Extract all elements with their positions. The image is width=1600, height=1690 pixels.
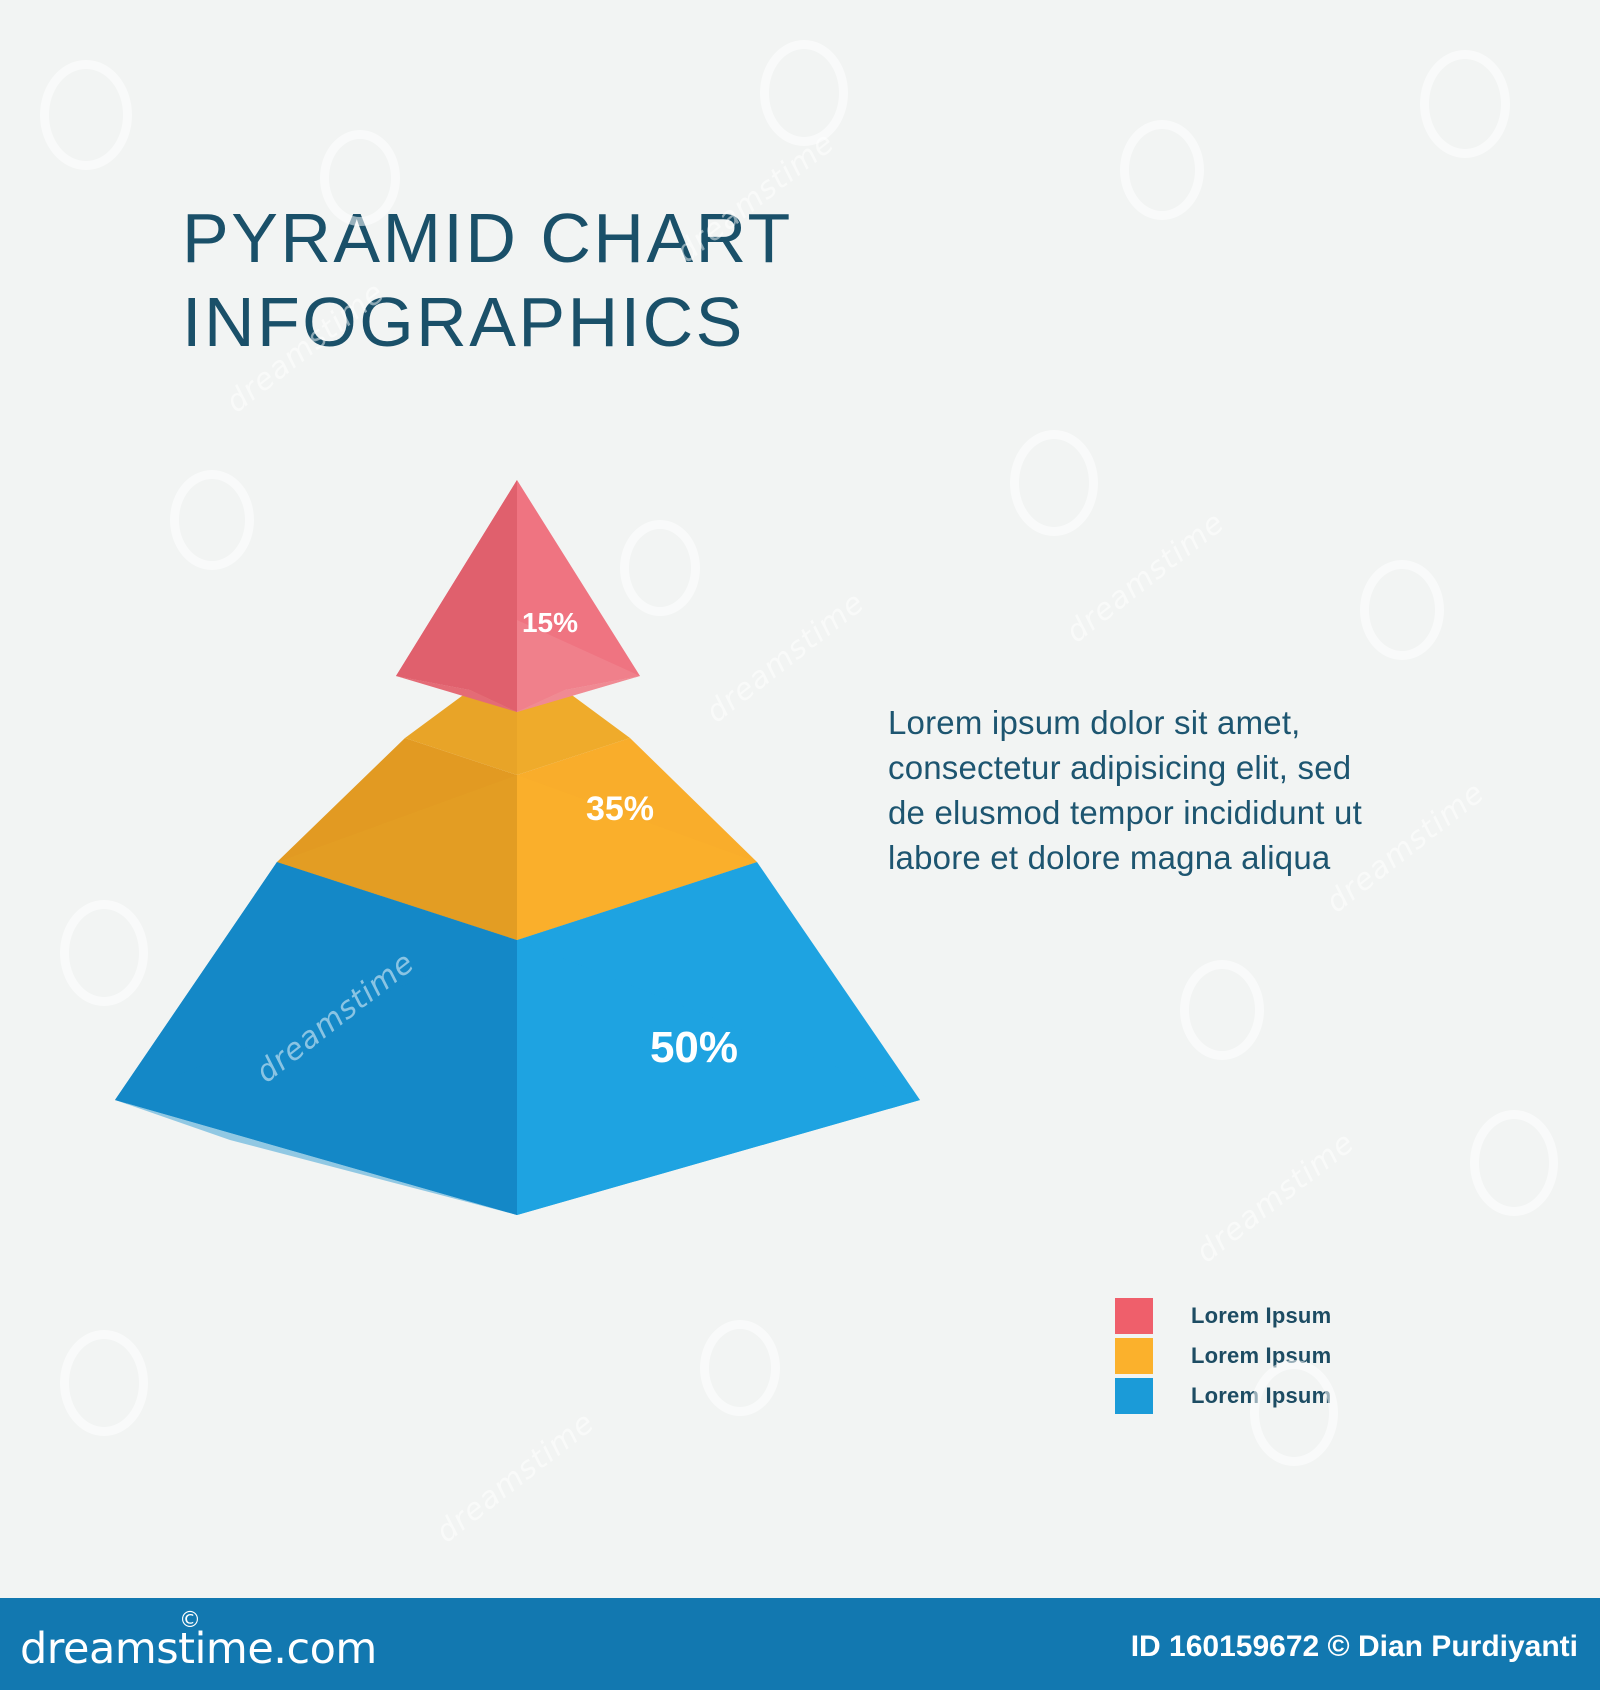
pyramid-chart: 50% 35% — [0, 0, 1050, 1300]
legend-item[interactable]: Lorem Ipsum — [1015, 1336, 1331, 1376]
watermark-text: dreamstime — [429, 1405, 601, 1550]
watermark-spiral — [700, 1320, 780, 1416]
legend-item[interactable]: Lorem Ipsum — [1015, 1296, 1331, 1336]
legend-swatch-base — [1115, 1378, 1153, 1414]
watermark-text: dreamstime — [1059, 505, 1231, 650]
chart-legend: Lorem Ipsum Lorem Ipsum Lorem Ipsum — [1015, 1296, 1331, 1416]
dreamstime-logo[interactable]: dreamstime.com © — [20, 1624, 377, 1674]
watermark-spiral — [1360, 560, 1444, 660]
pyramid-segment-top[interactable]: 15% — [396, 480, 640, 712]
legend-label-top: Lorem Ipsum — [1191, 1303, 1331, 1329]
legend-label-base: Lorem Ipsum — [1191, 1383, 1331, 1409]
watermark-spiral — [1180, 960, 1264, 1060]
legend-swatch-middle — [1115, 1338, 1153, 1374]
watermark-spiral — [1420, 50, 1510, 158]
infographic-canvas: dreamstime dreamstime dreamstime dreamst… — [0, 0, 1600, 1690]
base-percent-label: 50% — [650, 1023, 738, 1072]
footer-bar: dreamstime.com © ID 160159672 © Dian Pur… — [0, 1598, 1600, 1690]
watermark-spiral — [60, 1330, 148, 1436]
footer-credit: ID 160159672 © Dian Purdiyanti — [1131, 1630, 1578, 1664]
legend-item[interactable]: Lorem Ipsum — [1015, 1376, 1331, 1416]
pyramid-svg: 50% 35% — [0, 0, 1050, 1300]
middle-percent-label: 35% — [586, 790, 654, 828]
watermark-text: dreamstime — [1189, 1125, 1361, 1270]
legend-label-middle: Lorem Ipsum — [1191, 1343, 1331, 1369]
watermark-spiral — [1120, 120, 1204, 220]
top-percent-label: 15% — [522, 607, 578, 638]
top-face-left-outer — [396, 480, 517, 712]
watermark-spiral — [1470, 1110, 1558, 1216]
registered-mark-icon: © — [179, 1608, 201, 1633]
legend-swatch-top — [1115, 1298, 1153, 1334]
